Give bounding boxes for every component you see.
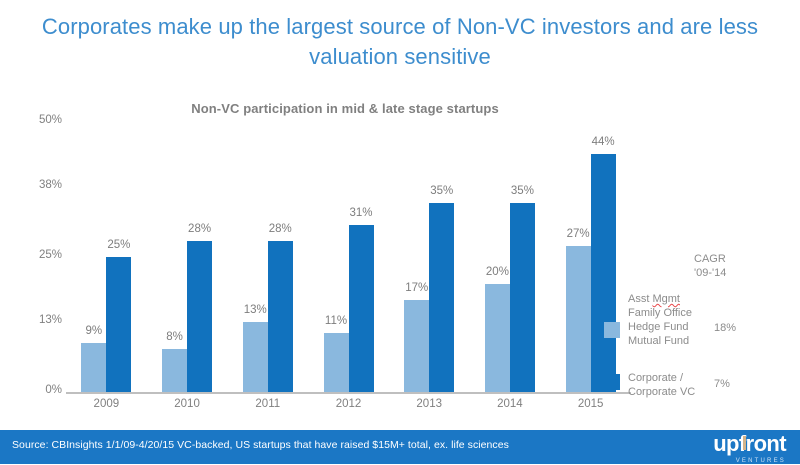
legend-swatch-dark-blue bbox=[604, 374, 620, 390]
bar-2010-series2 bbox=[187, 241, 212, 392]
x-axis-tick-label: 2013 bbox=[399, 398, 459, 410]
legend-label-line3: Hedge Fund bbox=[628, 320, 692, 334]
cagr-header-line2: '09-'14 bbox=[694, 266, 726, 280]
bar-2009-series1 bbox=[81, 343, 106, 392]
y-axis-tick-label: 13% bbox=[16, 314, 62, 326]
x-axis-tick-label: 2010 bbox=[157, 398, 217, 410]
footer-bar: Source: CBInsights 1/1/09-4/20/15 VC-bac… bbox=[0, 430, 800, 464]
bar-2014-series2 bbox=[510, 203, 535, 392]
cagr-header-line1: CAGR bbox=[694, 252, 726, 266]
legend-cagr-asset-managers: 18% bbox=[714, 322, 736, 334]
x-axis-line bbox=[66, 392, 631, 394]
legend-label-prefix: Asst bbox=[628, 293, 652, 305]
bar-2015-series2 bbox=[591, 154, 616, 392]
legend-cagr-corporate: 7% bbox=[714, 378, 730, 390]
legend-swatch-light-blue bbox=[604, 322, 620, 338]
legend-label-line2: Family Office bbox=[628, 306, 692, 320]
bar-2015-series1 bbox=[566, 246, 591, 392]
logo-accent-mark bbox=[743, 436, 746, 450]
legend-label-corporate-line1: Corporate / bbox=[628, 371, 695, 385]
x-axis-tick-label: 2011 bbox=[238, 398, 298, 410]
x-axis-tick-label: 2014 bbox=[480, 398, 540, 410]
cagr-header: CAGR '09-'14 bbox=[694, 252, 726, 280]
legend-label-corporate-line2: Corporate VC bbox=[628, 385, 695, 399]
bar-2009-series2 bbox=[106, 257, 131, 392]
x-axis-tick-label: 2012 bbox=[319, 398, 379, 410]
x-axis-tick-label: 2015 bbox=[561, 398, 621, 410]
bar-value-label: 35% bbox=[505, 185, 540, 197]
bar-value-label: 28% bbox=[182, 223, 217, 235]
bar-value-label: 44% bbox=[586, 136, 621, 148]
logo-wordmark: upfront bbox=[713, 434, 786, 454]
bar-2013-series1 bbox=[404, 300, 429, 392]
bar-2013-series2 bbox=[429, 203, 454, 392]
upfront-ventures-logo: upfront VENTURES bbox=[713, 434, 786, 465]
bar-2011-series2 bbox=[268, 241, 293, 392]
bar-value-label: 28% bbox=[263, 223, 298, 235]
bar-2014-series1 bbox=[485, 284, 510, 392]
logo-wordmark-text: upfront bbox=[713, 431, 786, 456]
y-axis-tick-label: 25% bbox=[16, 249, 62, 261]
bar-2010-series1 bbox=[162, 349, 187, 392]
bar-2012-series2 bbox=[349, 225, 374, 392]
y-axis-tick-label: 50% bbox=[16, 114, 62, 126]
chart-plot-area: 0% 13% 25% 38% 50% 9%25%8%28%13%28%11%31… bbox=[0, 0, 800, 430]
legend-label-corporate: Corporate / Corporate VC bbox=[628, 371, 695, 399]
legend-label-mgmt-misspelled: Mgmt bbox=[652, 293, 680, 305]
bar-value-label: 35% bbox=[424, 185, 459, 197]
bar-value-label: 31% bbox=[344, 207, 379, 219]
y-axis-tick-label: 0% bbox=[16, 384, 62, 396]
bar-2012-series1 bbox=[324, 333, 349, 392]
y-axis-tick-label: 38% bbox=[16, 179, 62, 191]
legend-label-line4: Mutual Fund bbox=[628, 334, 692, 348]
bar-value-label: 25% bbox=[101, 239, 136, 251]
source-note: Source: CBInsights 1/1/09-4/20/15 VC-bac… bbox=[12, 439, 509, 451]
x-axis-tick-label: 2009 bbox=[76, 398, 136, 410]
bar-2011-series1 bbox=[243, 322, 268, 392]
legend-label-asset-managers: Asst Mgmt Family Office Hedge Fund Mutua… bbox=[628, 292, 692, 348]
